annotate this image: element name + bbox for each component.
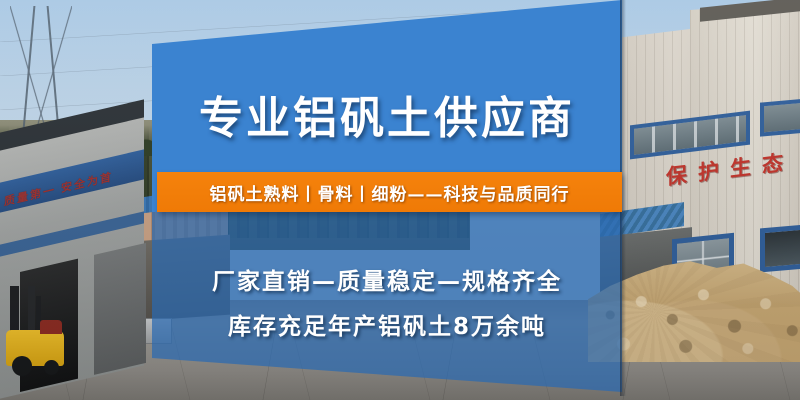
slogan-bar: 铝矾土熟料丨骨料丨细粉——科技与品质同行	[157, 172, 622, 212]
banner-subline-2: 库存充足年产铝矾土8万余吨	[152, 307, 622, 341]
promo-banner: 保护生态 质量第一 安全为首	[0, 0, 800, 400]
banner-headline: 专业铝矾土供应商	[152, 82, 622, 146]
slogan-text: 铝矾土熟料丨骨料丨细粉——科技与品质同行	[210, 180, 570, 205]
banner-subline-1: 厂家直销—质量稳定—规格齐全	[152, 262, 622, 296]
banner-content: 专业铝矾土供应商 铝矾土熟料丨骨料丨细粉——科技与品质同行 厂家直销—质量稳定—…	[152, 0, 622, 400]
